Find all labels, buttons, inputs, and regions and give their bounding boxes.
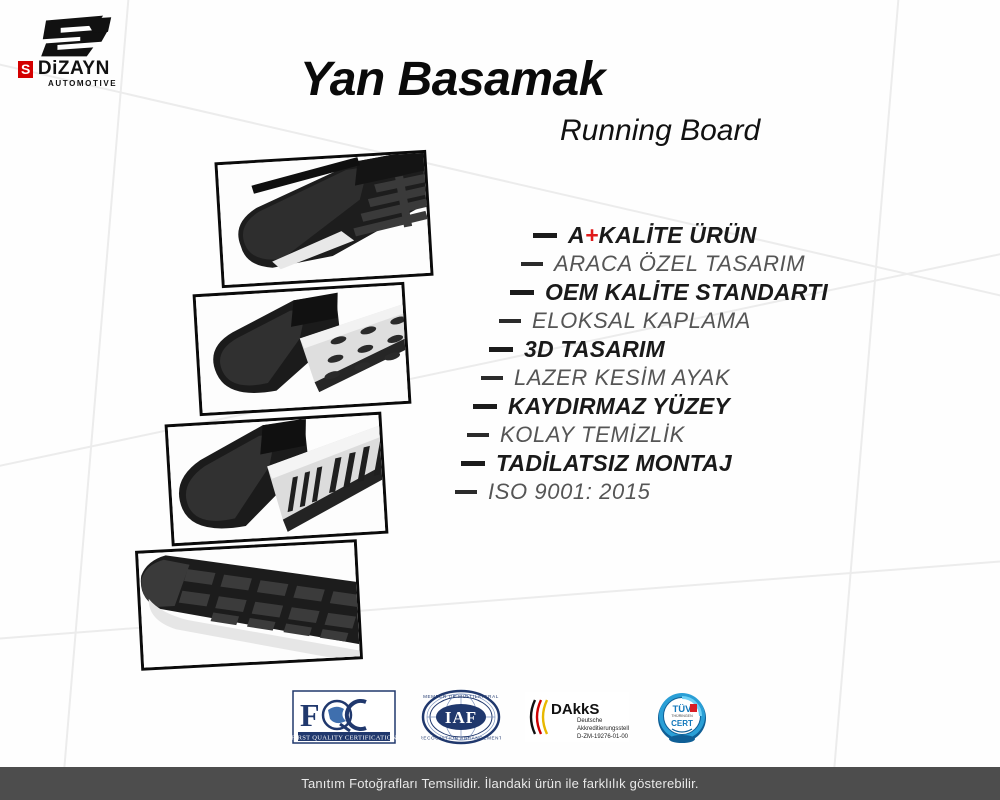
fqc-caption: FIRST QUALITY CERTIFICATION	[292, 735, 396, 742]
tuv-sub-label: THÜRINGEN	[671, 714, 693, 718]
feature-label: ISO 9001: 2015	[488, 479, 651, 505]
dakks-logo-icon: DAkkS Deutsche Akkreditierungsstelle D-Z…	[525, 692, 629, 742]
page-subtitle: Running Board	[560, 114, 760, 148]
brand-name: DiZAYN	[38, 58, 110, 80]
feature-label: 3D TASARIM	[524, 336, 665, 363]
running-board-silver-slots-image	[165, 412, 389, 547]
feature-label: TADİLATSIZ MONTAJ	[496, 450, 732, 477]
tuv-cert-label: CERT	[671, 719, 693, 728]
fqc-logo-icon: F FIRST QUALITY CERTIFICATION	[292, 690, 396, 744]
certification-badges: F FIRST QUALITY CERTIFICATION I	[292, 686, 710, 748]
dash-icon	[521, 262, 543, 266]
dakks-caption-2: Akkreditierungsstelle	[577, 726, 629, 732]
feature-label: ELOKSAL KAPLAMA	[532, 308, 751, 334]
dash-icon	[489, 347, 513, 352]
plus-highlight: +	[585, 222, 599, 248]
brand-tagline: AUTOMOTIVE	[48, 79, 117, 88]
iaf-caption-top: MEMBER OF MULTILATERAL	[423, 694, 499, 699]
iaf-logo-icon: IAF MEMBER OF MULTILATERAL RECOGNITION A…	[421, 689, 501, 745]
feature-label: KAYDIRMAZ YÜZEY	[508, 393, 730, 420]
feature-item: ELOKSAL KAPLAMA	[455, 308, 925, 334]
product-photo-2[interactable]	[193, 282, 412, 416]
brand-badge-letter: S	[18, 61, 33, 78]
running-board-silver-oval-image	[193, 282, 412, 416]
feature-item: 3D TASARIM	[455, 336, 925, 363]
feature-label: OEM KALİTE STANDARTI	[545, 279, 828, 306]
iaf-caption-bottom: RECOGNITION ARRANGEMENT	[421, 736, 501, 741]
feature-list: A+KALİTE ÜRÜN ARACA ÖZEL TASARIM OEM KAL…	[455, 222, 925, 507]
feature-item: KOLAY TEMİZLİK	[455, 422, 925, 448]
svg-text:F: F	[300, 697, 320, 733]
feature-item: KAYDIRMAZ YÜZEY	[455, 393, 925, 420]
dash-icon	[533, 233, 557, 238]
feature-label: A+KALİTE ÜRÜN	[568, 222, 757, 249]
svg-text:IAF: IAF	[445, 708, 477, 727]
dash-icon	[481, 376, 503, 380]
dash-icon	[467, 433, 489, 437]
dash-icon	[499, 319, 521, 323]
cert-badge-iaf: IAF MEMBER OF MULTILATERAL RECOGNITION A…	[421, 688, 501, 746]
page-title: Yan Basamak	[300, 52, 605, 107]
dakks-label: DAkkS	[551, 701, 599, 718]
feature-item: OEM KALİTE STANDARTI	[455, 279, 925, 306]
dash-icon	[473, 404, 497, 409]
s-monogram-icon	[36, 14, 118, 58]
dakks-caption-3: D-ZM-19276-01-00	[577, 734, 629, 740]
tuv-cert-logo-icon: TÜV THÜRINGEN CERT	[654, 689, 710, 745]
product-infographic: S DiZAYN AUTOMOTIVE Yan Basamak Running …	[0, 0, 1000, 800]
running-board-black-tread-image	[135, 539, 363, 670]
feature-item: ARACA ÖZEL TASARIM	[455, 251, 925, 277]
dash-icon	[510, 290, 534, 295]
feature-label: KOLAY TEMİZLİK	[500, 422, 685, 448]
cert-badge-fqc: F FIRST QUALITY CERTIFICATION	[292, 688, 396, 746]
running-board-black-ribbed-image	[214, 150, 433, 288]
brand-logo: S DiZAYN AUTOMOTIVE	[18, 14, 158, 92]
feature-item: A+KALİTE ÜRÜN	[455, 222, 925, 249]
footer-disclaimer-text: Tanıtım Fotoğrafları Temsilidir. İlandak…	[301, 776, 699, 791]
dash-icon	[461, 461, 485, 466]
footer-disclaimer-bar: Tanıtım Fotoğrafları Temsilidir. İlandak…	[0, 767, 1000, 800]
product-photo-1[interactable]	[214, 150, 433, 288]
cert-badge-dakks: DAkkS Deutsche Akkreditierungsstelle D-Z…	[525, 688, 629, 746]
product-photo-3[interactable]	[165, 412, 389, 547]
feature-label: ARACA ÖZEL TASARIM	[554, 251, 805, 277]
feature-item: TADİLATSIZ MONTAJ	[455, 450, 925, 477]
feature-item: ISO 9001: 2015	[455, 479, 925, 505]
feature-item: LAZER KESİM AYAK	[455, 365, 925, 391]
product-photo-4[interactable]	[135, 539, 363, 670]
dakks-caption-1: Deutsche	[577, 718, 603, 724]
cert-badge-tuv: TÜV THÜRINGEN CERT	[654, 688, 710, 746]
brand-name-row: S DiZAYN	[18, 60, 158, 78]
dash-icon	[455, 490, 477, 494]
feature-label: LAZER KESİM AYAK	[514, 365, 730, 391]
